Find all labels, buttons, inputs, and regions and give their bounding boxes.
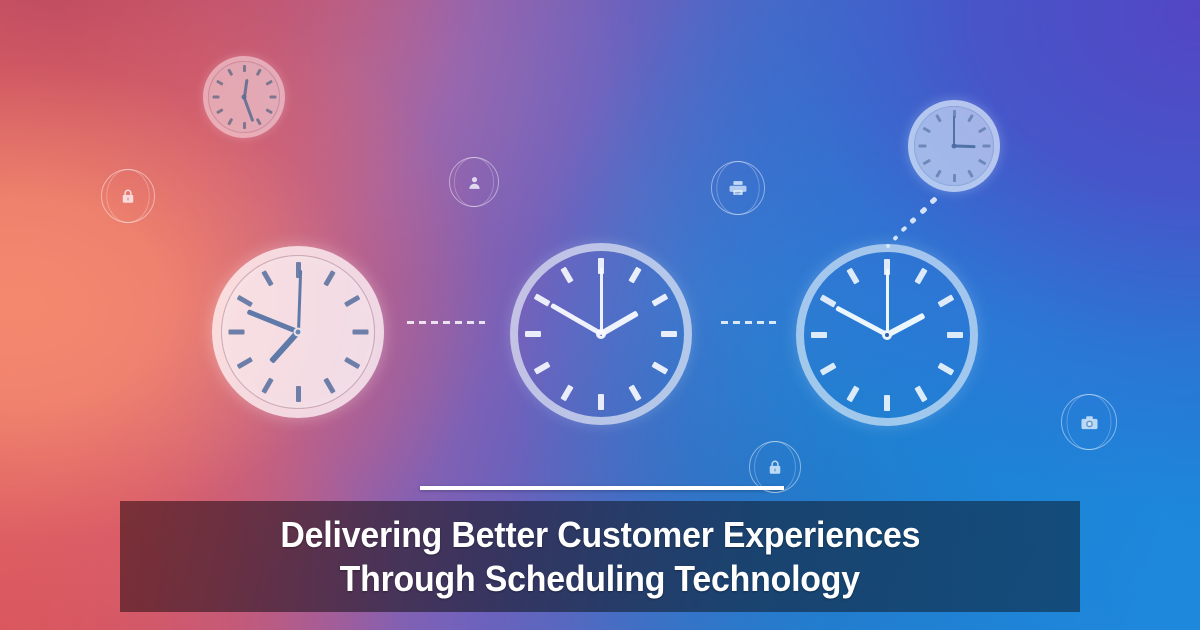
bubble-camera — [1061, 394, 1117, 450]
bubble-lock-left — [101, 169, 155, 223]
clock-center-hub — [882, 330, 892, 340]
clock-tick — [982, 145, 990, 148]
lock-icon — [766, 458, 784, 476]
title-band: Delivering Better Customer Experiences T… — [120, 501, 1080, 612]
clock-tick — [953, 174, 956, 182]
title-line-2: Through Scheduling Technology — [340, 557, 860, 601]
hero-banner: Delivering Better Customer Experiences T… — [0, 0, 1200, 630]
lock-icon — [119, 187, 137, 205]
clock-tick — [598, 394, 604, 410]
clock-large-right — [796, 244, 978, 426]
title-rule — [420, 486, 784, 490]
clock-center-hub — [242, 95, 247, 100]
dashed-connector-right — [721, 321, 781, 324]
clock-tick — [947, 332, 963, 338]
clock-tick — [228, 330, 244, 335]
user-icon — [466, 174, 483, 191]
printer-icon — [728, 179, 748, 197]
clock-center-hub — [596, 329, 606, 339]
dashed-connector-left — [407, 321, 485, 324]
clock-tick — [269, 96, 276, 99]
clock-tick — [352, 330, 368, 335]
clock-center-hub — [952, 144, 957, 149]
bubble-printer — [711, 161, 765, 215]
title-line-1: Delivering Better Customer Experiences — [280, 513, 920, 557]
clock-tick — [884, 395, 890, 411]
bubble-user — [449, 157, 499, 207]
clock-small-top-right — [908, 100, 1000, 192]
clock-second-hand — [600, 268, 603, 334]
clock-tick — [243, 65, 246, 72]
clock-tick — [243, 122, 246, 129]
clock-tick — [296, 386, 301, 402]
clock-center-hub — [294, 328, 303, 337]
clock-tick — [918, 145, 926, 148]
clock-tick — [212, 96, 219, 99]
clock-large-left — [212, 246, 384, 418]
camera-icon — [1080, 414, 1099, 431]
clock-tick — [525, 331, 541, 337]
clock-large-center — [510, 243, 692, 425]
clock-small-top-left — [203, 56, 285, 138]
clock-tick — [811, 332, 827, 338]
clock-tick — [661, 331, 677, 337]
clock-minute-hand — [953, 116, 956, 146]
clock-second-hand — [886, 269, 889, 335]
